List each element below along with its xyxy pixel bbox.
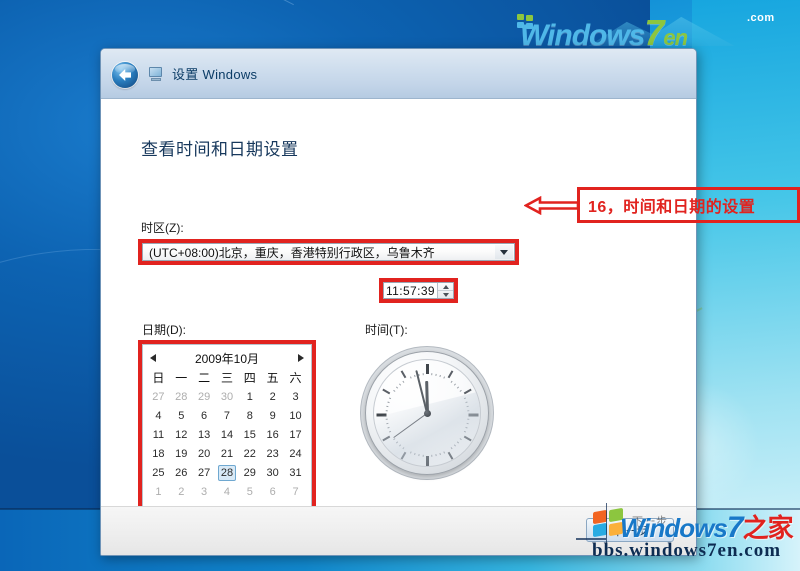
calendar-day[interactable]: 11 xyxy=(147,425,170,444)
calendar-day[interactable]: 27 xyxy=(193,463,216,482)
calendar-weekday-3: 三 xyxy=(216,368,239,387)
calendar-day-value: 28 xyxy=(218,465,236,481)
clock-minute-tick xyxy=(460,390,462,392)
calendar-week-row: 27282930123 xyxy=(147,387,307,406)
calendar-day[interactable]: 22 xyxy=(238,444,261,463)
calendar-day[interactable]: 16 xyxy=(261,425,284,444)
calendar-day[interactable]: 7 xyxy=(216,406,239,425)
time-value[interactable]: 11:57:39 xyxy=(384,283,437,298)
calendar-day[interactable]: 23 xyxy=(261,444,284,463)
clock-hour-tick xyxy=(382,389,390,395)
calendar-week-row: 1234567 xyxy=(147,482,307,501)
bottom-watermark-url: bbs.windows7en.com xyxy=(592,540,781,562)
calendar-week-row: 11121314151617 xyxy=(147,425,307,444)
clock-minute-tick xyxy=(386,410,388,411)
calendar-day[interactable]: 18 xyxy=(147,444,170,463)
clock-minute-tick xyxy=(454,383,456,385)
computer-icon xyxy=(148,66,164,82)
calendar-day[interactable]: 5 xyxy=(238,482,261,501)
screenshot-root: Windows7en .com 设置 Windows 查看时间和日期设置 时区(… xyxy=(0,0,800,571)
calendar-day[interactable]: 14 xyxy=(216,425,239,444)
calendar-highlight-box: 2009年10月 日一二三四五六 27282930123456789101112… xyxy=(138,340,316,516)
clock-minute-tick xyxy=(396,387,398,389)
calendar-day[interactable]: 4 xyxy=(147,406,170,425)
watermark-tld: .com xyxy=(747,12,775,24)
calendar-day[interactable]: 20 xyxy=(193,444,216,463)
annotation-callout: 16，时间和日期的设置 xyxy=(577,187,800,223)
calendar-day[interactable]: 29 xyxy=(238,463,261,482)
calendar-week-row: 25262728293031 xyxy=(147,463,307,482)
calendar-day[interactable]: 1 xyxy=(147,482,170,501)
calendar-day[interactable]: 24 xyxy=(284,444,307,463)
chevron-left-icon[interactable] xyxy=(150,354,156,362)
calendar-day[interactable]: 30 xyxy=(261,463,284,482)
calendar-grid: 日一二三四五六 27282930123456789101112131415161… xyxy=(147,368,307,501)
calendar-month-title: 2009年10月 xyxy=(195,350,259,367)
calendar-day[interactable]: 2 xyxy=(261,387,284,406)
calendar-day[interactable]: 29 xyxy=(193,387,216,406)
clock-minute-tick xyxy=(414,375,416,377)
watermark-brand: Windows xyxy=(520,19,644,46)
clock-minute-tick xyxy=(451,381,453,383)
calendar-day[interactable]: 26 xyxy=(170,463,193,482)
timezone-highlight-box: (UTC+08:00)北京，重庆，香港特别行政区，乌鲁木齐 xyxy=(138,239,519,265)
clock-center-cap xyxy=(424,410,431,417)
time-spinner[interactable] xyxy=(437,283,453,298)
date-label: 日期(D): xyxy=(142,321,186,338)
calendar-day[interactable]: 9 xyxy=(261,406,284,425)
spinner-up-icon[interactable] xyxy=(438,283,453,291)
clock-minute-tick xyxy=(439,375,441,377)
window-titlebar: 设置 Windows xyxy=(101,49,696,99)
clock-hour-tick xyxy=(426,364,429,374)
clock-minute-tick xyxy=(387,402,389,404)
clock-minute-tick xyxy=(386,406,388,407)
calendar-day[interactable]: 4 xyxy=(216,482,239,501)
calendar-weekday-2: 二 xyxy=(193,368,216,387)
calendar-day[interactable]: 12 xyxy=(170,425,193,444)
timezone-select[interactable]: (UTC+08:00)北京，重庆，香港特别行政区，乌鲁木齐 xyxy=(142,243,515,261)
bottom-brand: Windows xyxy=(620,513,727,543)
calendar-day[interactable]: 3 xyxy=(193,482,216,501)
calendar-day[interactable]: 8 xyxy=(238,406,261,425)
bottom-watermark: 下一步 Windows7之家 bbs.windows7en.com xyxy=(592,503,800,571)
clock-hour-tick xyxy=(448,370,454,378)
calendar-weekday-row: 日一二三四五六 xyxy=(147,368,307,387)
calendar-day[interactable]: 25 xyxy=(147,463,170,482)
calendar-weekday-0: 日 xyxy=(147,368,170,387)
time-label: 时间(T): xyxy=(365,321,408,338)
watermark-suffix: en xyxy=(663,25,687,46)
logo-divider xyxy=(606,503,607,545)
calendar-day[interactable]: 19 xyxy=(170,444,193,463)
calendar-day[interactable]: 15 xyxy=(238,425,261,444)
clock-minute-tick xyxy=(393,390,395,392)
window-body: 查看时间和日期设置 时区(Z): (UTC+08:00)北京，重庆，香港特别行政… xyxy=(101,99,696,506)
calendar-day[interactable]: 13 xyxy=(193,425,216,444)
spinner-down-icon[interactable] xyxy=(438,291,453,298)
back-arrow-icon[interactable] xyxy=(112,62,138,88)
calendar-day[interactable]: 6 xyxy=(193,406,216,425)
left-arrow-annotation-icon xyxy=(524,196,580,215)
clock-minute-tick xyxy=(389,397,391,399)
timezone-selected-value: (UTC+08:00)北京，重庆，香港特别行政区，乌鲁木齐 xyxy=(143,244,435,261)
calendar-day[interactable]: 10 xyxy=(284,406,307,425)
calendar-header: 2009年10月 xyxy=(147,348,307,368)
window-title: 设置 Windows xyxy=(172,64,257,83)
calendar-day[interactable]: 28 xyxy=(170,387,193,406)
clock-minute-tick xyxy=(410,376,412,378)
timezone-label: 时区(Z): xyxy=(141,219,184,236)
top-watermark-text: Windows7en xyxy=(520,12,687,46)
calendar-day[interactable]: 6 xyxy=(261,482,284,501)
clock-face xyxy=(373,359,481,467)
watermark-seven: 7 xyxy=(644,12,663,46)
chevron-right-icon[interactable] xyxy=(298,354,304,362)
bottom-cn-suffix: 之家 xyxy=(743,513,793,543)
clock-minute-tick xyxy=(399,383,401,385)
chevron-down-icon[interactable] xyxy=(495,245,513,259)
calendar-week-row: 45678910 xyxy=(147,406,307,425)
calendar-weekday-4: 四 xyxy=(238,368,261,387)
top-watermark: Windows7en .com xyxy=(512,0,800,46)
date-picker-calendar[interactable]: 2009年10月 日一二三四五六 27282930123456789101112… xyxy=(142,344,312,512)
clock-minute-tick xyxy=(431,373,432,375)
setup-windows-window: 设置 Windows 查看时间和日期设置 时区(Z): (UTC+08:00)北… xyxy=(100,48,697,556)
clock-minute-tick xyxy=(402,381,404,383)
calendar-week-row: 18192021222324 xyxy=(147,444,307,463)
clock-minute-tick xyxy=(423,373,424,375)
page-title: 查看时间和日期设置 xyxy=(141,135,299,160)
calendar-weekday-5: 五 xyxy=(261,368,284,387)
calendar-day[interactable]: 31 xyxy=(284,463,307,482)
calendar-day[interactable]: 17 xyxy=(284,425,307,444)
calendar-day[interactable]: 30 xyxy=(216,387,239,406)
time-input-field[interactable]: 11:57:39 xyxy=(383,282,454,299)
clock-minute-tick xyxy=(457,387,459,389)
analog-clock xyxy=(365,351,489,475)
calendar-day[interactable]: 27 xyxy=(147,387,170,406)
clock-minute-tick xyxy=(435,374,436,376)
clock-hour-tick xyxy=(401,370,407,378)
calendar-weekday-1: 一 xyxy=(170,368,193,387)
calendar-day[interactable]: 2 xyxy=(170,482,193,501)
calendar-day[interactable]: 3 xyxy=(284,387,307,406)
calendar-day[interactable]: 1 xyxy=(238,387,261,406)
calendar-day-selected[interactable]: 28 xyxy=(216,463,239,482)
time-highlight-box: 11:57:39 xyxy=(379,278,458,303)
annotation-text: 16，时间和日期的设置 xyxy=(580,193,755,217)
calendar-day[interactable]: 5 xyxy=(170,406,193,425)
calendar-day[interactable]: 21 xyxy=(216,444,239,463)
clock-minute-tick xyxy=(443,376,445,378)
calendar-weekday-6: 六 xyxy=(284,368,307,387)
calendar-day[interactable]: 7 xyxy=(284,482,307,501)
calendar-days-body: 2728293012345678910111213141516171819202… xyxy=(147,387,307,501)
